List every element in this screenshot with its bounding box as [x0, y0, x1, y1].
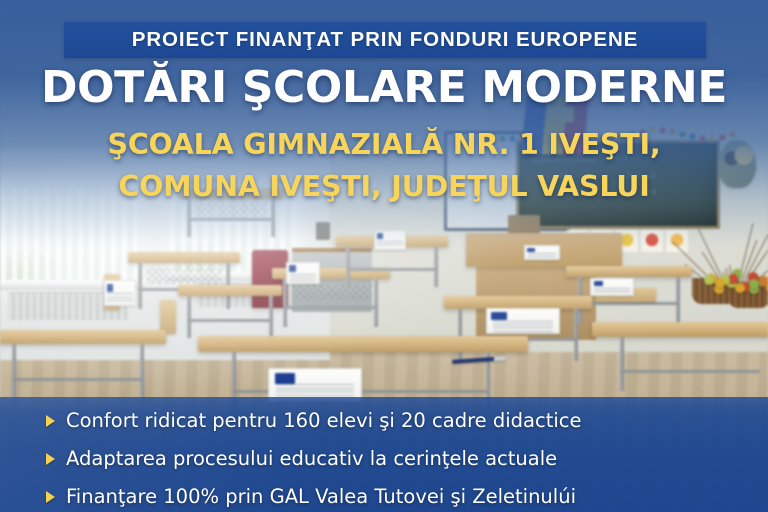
subtitle-line-1: ŞCOALA GIMNAZIALĂ NR. 1 IVEŞTI,: [0, 128, 768, 161]
list-item-label: Confort ridicat pentru 160 elevi şi 20 c…: [66, 409, 582, 432]
subtitle-line-2: COMUNA IVEŞTI, JUDEŢUL VASLUI: [0, 170, 768, 203]
triangle-right-icon: [46, 453, 55, 465]
student-desk-right-front: [592, 322, 768, 392]
list-item: Finanţare 100% prin GAL Valea Tutovei şi…: [46, 485, 576, 508]
equipment-label-teacher-desk: [524, 245, 560, 260]
ribbon-label: PROIECT FINANŢAT PRIN FONDURI EUROPENE: [132, 28, 638, 52]
plant-pot: [316, 222, 330, 240]
list-item: Adaptarea procesului educativ la cerinţe…: [46, 447, 557, 470]
triangle-right-icon: [46, 491, 55, 503]
triangle-right-icon: [46, 415, 55, 427]
page-title: DOTĂRI ŞCOLARE MODERNE: [0, 62, 768, 113]
student-desk-left-front: [0, 330, 166, 404]
equipment-label-5: [486, 308, 560, 334]
student-desk-back-center: [178, 285, 282, 339]
student-chair-back-center: [160, 300, 176, 334]
promotional-poster: Regula de trei simplă a · b = c x + y = …: [0, 0, 768, 512]
list-item-label: Adaptarea procesului educativ la cerinţe…: [66, 447, 557, 470]
equipment-label-1: [104, 280, 136, 306]
feature-list: Confort ridicat pentru 160 elevi şi 20 c…: [0, 397, 768, 512]
list-item-label: Finanţare 100% prin GAL Valea Tutovei şi…: [66, 485, 576, 508]
funding-ribbon: PROIECT FINANŢAT PRIN FONDURI EUROPENE: [64, 22, 706, 58]
equipment-label-2: [286, 262, 320, 284]
list-item: Confort ridicat pentru 160 elevi şi 20 c…: [46, 409, 582, 432]
equipment-label-4: [590, 278, 634, 296]
equipment-label-3: [374, 230, 406, 250]
